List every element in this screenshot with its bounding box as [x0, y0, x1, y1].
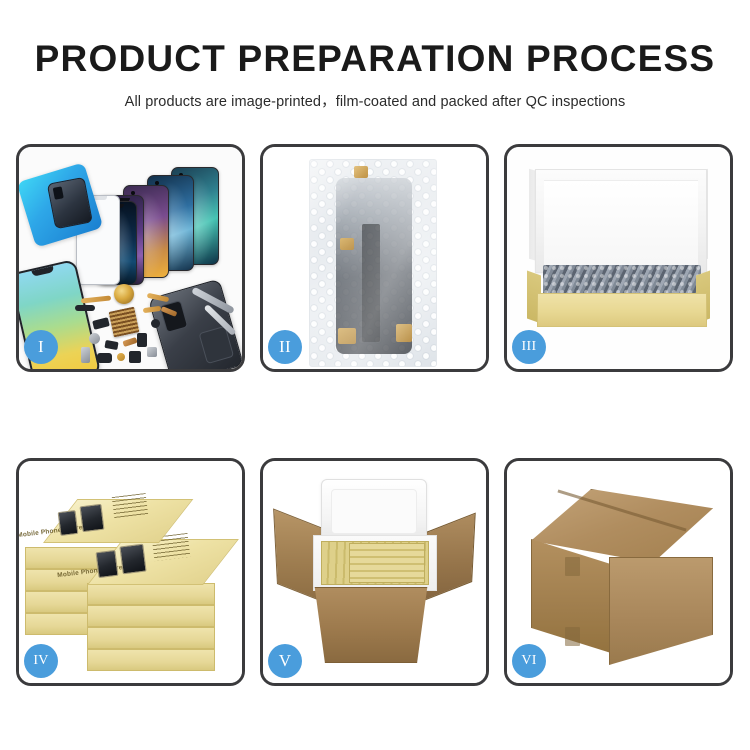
- step-badge-2: II: [268, 330, 302, 364]
- step-badge-3: III: [512, 330, 546, 364]
- step-panel-6[interactable]: VI: [504, 458, 733, 686]
- step-badge-6: VI: [512, 644, 546, 678]
- step-panel-5[interactable]: V: [260, 458, 489, 686]
- process-steps-grid: I II: [16, 144, 734, 686]
- step-badge-4: IV: [24, 644, 58, 678]
- step-panel-3[interactable]: III: [504, 144, 733, 372]
- page-subtitle: All products are image-printed，film-coat…: [0, 90, 750, 111]
- header: PRODUCT PREPARATION PROCESS All products…: [0, 40, 750, 111]
- step-panel-4[interactable]: Mobile Phone Spare Parts Mobile Phone Sp…: [16, 458, 245, 686]
- step-panel-2[interactable]: II: [260, 144, 489, 372]
- product-preparation-infographic: PRODUCT PREPARATION PROCESS All products…: [0, 0, 750, 750]
- page-title: PRODUCT PREPARATION PROCESS: [0, 40, 750, 79]
- step-panel-1[interactable]: I: [16, 144, 245, 372]
- step-badge-1: I: [24, 330, 58, 364]
- step-badge-5: V: [268, 644, 302, 678]
